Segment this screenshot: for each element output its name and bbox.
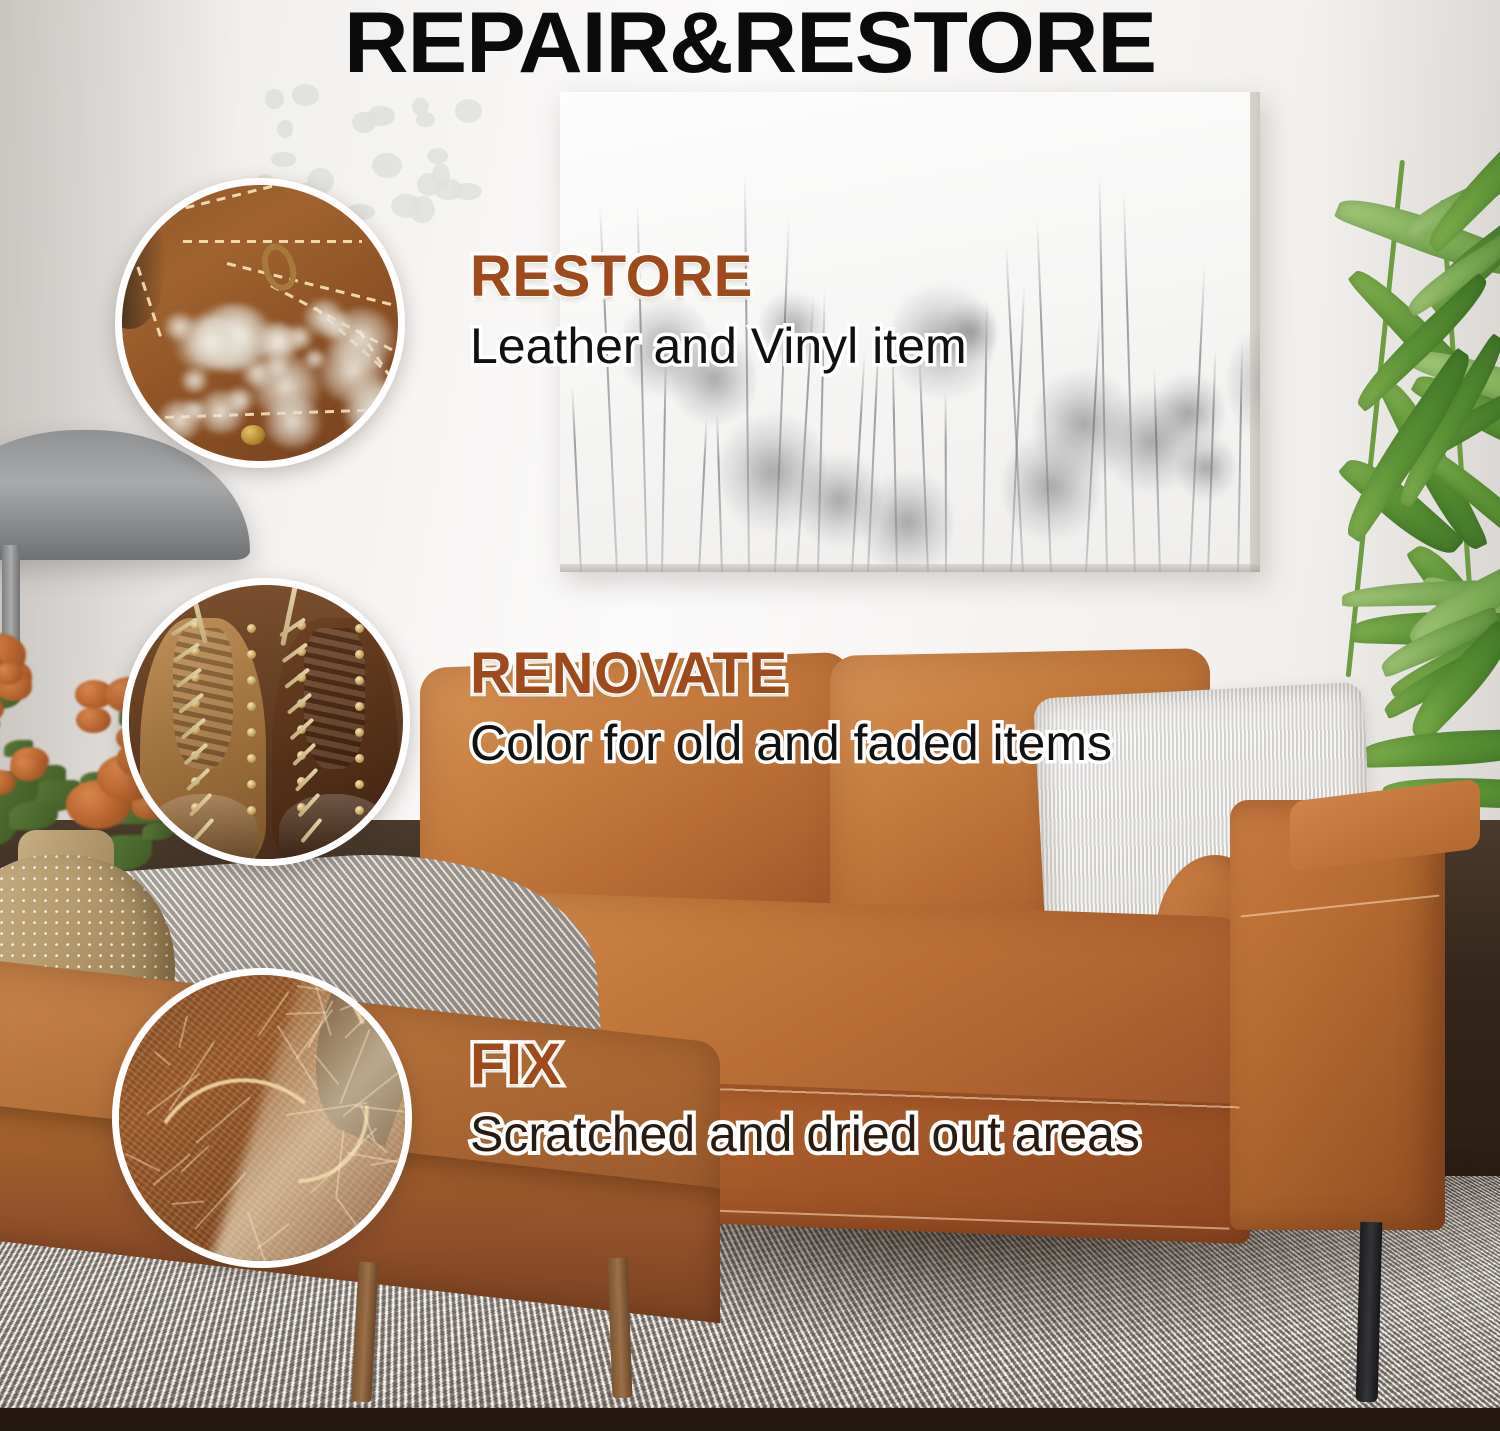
feature-restore-heading: RESTORE <box>470 248 967 306</box>
inset-image-restore <box>115 178 405 468</box>
boot-eyelet <box>247 780 256 789</box>
eucalyptus-leaf <box>352 112 375 133</box>
feature-fix-subtitle: Scratched and dried out areas <box>470 1108 1140 1161</box>
feature-restore: RESTORE Leather and Vinyl item <box>470 248 967 373</box>
artwork-stem <box>698 417 708 572</box>
page-title: REPAIR&RESTORE <box>0 0 1500 93</box>
artwork-stem <box>1123 192 1136 572</box>
worn-leather-boots-photo <box>129 585 403 859</box>
mold-patch <box>260 325 299 358</box>
sofa-leg <box>1356 1222 1383 1403</box>
feature-fix-heading: FIX <box>470 1036 1140 1094</box>
eucalyptus-leaf <box>453 183 482 201</box>
boot-eyelet <box>247 806 256 815</box>
boot-eyelet <box>355 650 364 659</box>
dried-bloom <box>76 707 110 733</box>
eucalyptus-leaf <box>372 153 401 178</box>
boot-eyelet <box>247 676 256 685</box>
feature-renovate: RENOVATE Color for old and faded items <box>470 645 1112 770</box>
boot-eyelet <box>247 754 256 763</box>
inset-image-renovate <box>122 578 410 866</box>
eucalyptus-leaf <box>277 120 293 138</box>
dried-bloom <box>10 754 46 781</box>
eucalyptus-leaf <box>455 99 482 123</box>
boot-eyelet <box>355 780 364 789</box>
eucalyptus-leaf <box>427 148 447 164</box>
bouquet-foliage <box>9 801 58 830</box>
boot-eyelet <box>247 650 256 659</box>
mold-patch <box>156 400 204 441</box>
boot-eyelet <box>355 702 364 711</box>
scratched-leather-photo <box>119 975 405 1261</box>
artwork-seedhead <box>862 465 953 572</box>
feature-restore-subtitle: Leather and Vinyl item <box>470 320 967 373</box>
boot-eyelet <box>355 676 364 685</box>
boot-eyelet <box>355 728 364 737</box>
brass-stud <box>241 425 265 445</box>
mold-patch <box>302 299 346 336</box>
mold-patch <box>180 368 209 393</box>
artwork-stem <box>571 385 582 572</box>
boot-eyelet <box>355 754 364 763</box>
product-infographic: REPAIR&RESTORE RESTORE Leather and Vinyl… <box>0 0 1500 1431</box>
boot-eyelet <box>247 624 256 633</box>
eucalyptus-leaf <box>271 152 297 166</box>
artwork-bottom-edge <box>560 564 1260 572</box>
boot-eyelet <box>247 728 256 737</box>
boot-eyelet <box>355 624 364 633</box>
feature-renovate-heading: RENOVATE <box>470 645 1112 703</box>
boot-eyelet <box>355 806 364 815</box>
mold-patch <box>262 396 323 448</box>
inset-image-fix <box>112 968 412 1268</box>
feature-fix: FIX Scratched and dried out areas <box>470 1036 1140 1161</box>
boot-eyelet <box>247 702 256 711</box>
plant-leaf <box>1359 728 1500 768</box>
eucalyptus-leaf <box>417 173 441 196</box>
eucalyptus-leaf <box>412 98 429 116</box>
mold-patch <box>316 340 388 402</box>
moldy-leather-bag-photo <box>122 185 398 461</box>
feature-renovate-subtitle: Color for old and faded items <box>470 717 1112 770</box>
boot-toe <box>279 794 390 866</box>
